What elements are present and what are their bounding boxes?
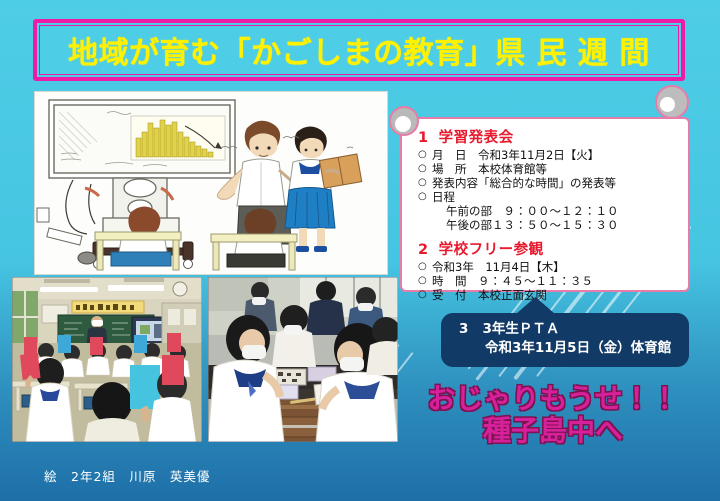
section-2-title: 学校フリー参観 — [439, 242, 544, 258]
bullet-marker: ○ — [418, 190, 432, 204]
photo-science-lab-observation — [208, 277, 398, 442]
slogan-line-1: おじゃりもうせ！！ — [398, 382, 708, 416]
poster-title-box: 地域が育む「かごしまの教育」県 民 週 間 — [33, 19, 685, 81]
schedule-afternoon: 午後の部１３：５０〜１５：３０ — [418, 218, 678, 232]
list-item-text: 月 日 令和3年11月2日【火】 — [432, 148, 599, 162]
info-section-2: 2学校フリー参観 ○ 令和3年 11月4日【木】 ○ 時 間 ９：４５〜１１：３… — [418, 238, 678, 302]
bullet-marker: ○ — [418, 148, 432, 162]
photo-classroom-response-cards — [12, 277, 202, 442]
bullet-marker: ○ — [418, 176, 432, 190]
list-item: ○ 時 間 ９：４５〜１１：３５ — [418, 274, 678, 288]
callout-pta-box: 3 3年生ＰＴＡ 令和3年11月5日（金）体育館 — [441, 313, 689, 367]
section-1-number: 1 — [418, 130, 429, 146]
section-2-heading: 2学校フリー参観 — [418, 238, 678, 259]
poster-title-inner: 地域が育む「かごしまの教育」県 民 週 間 — [39, 25, 679, 75]
list-item-text: 場 所 本校体育館等 — [432, 162, 547, 176]
illustration-hand-drawn-scene — [34, 91, 388, 275]
illustration-credit: 絵 2年2組 川原 英美優 — [44, 466, 210, 485]
page-title: 地域が育む「かごしまの教育」県 民 週 間 — [68, 28, 650, 72]
bullet-marker: ○ — [418, 260, 432, 274]
list-item: ○ 令和3年 11月4日【木】 — [418, 260, 678, 274]
list-item: ○ 場 所 本校体育館等 — [418, 162, 678, 176]
list-item-text: 令和3年 11月4日【木】 — [432, 260, 565, 274]
list-item-text: 時 間 ９：４５〜１１：３５ — [432, 274, 593, 288]
section-2-number: 2 — [418, 242, 429, 258]
section-1-title: 学習発表会 — [439, 130, 514, 146]
bullet-marker: ○ — [418, 274, 432, 288]
callout-title: 3年生ＰＴＡ — [483, 321, 560, 337]
callout-line-2: 令和3年11月5日（金）体育館 — [441, 339, 689, 358]
poster-root: 地域が育む「かごしまの教育」県 民 週 間 — [0, 0, 720, 501]
list-item-text: 発表内容「総合的な時間」の発表等 — [432, 176, 616, 190]
list-item: ○ 発表内容「総合的な時間」の発表等 — [418, 176, 678, 190]
callout-line-1: 3 3年生ＰＴＡ — [441, 320, 689, 339]
bullet-marker: ○ — [418, 288, 432, 302]
schedule-morning: 午前の部 ９：００〜１２：１０ — [418, 204, 678, 218]
slogan-block: おじゃりもうせ！！ 種子島中へ — [398, 382, 708, 448]
callout-number: 3 — [459, 321, 468, 337]
section-1-heading: 1学習発表会 — [418, 126, 678, 147]
info-section-1: 1学習発表会 ○ 月 日 令和3年11月2日【火】 ○ 場 所 本校体育館等 ○… — [418, 126, 678, 232]
list-item: ○ 月 日 令和3年11月2日【火】 — [418, 148, 678, 162]
bullet-marker: ○ — [418, 162, 432, 176]
scroll-curl-right-icon — [655, 85, 689, 119]
slogan-line-2: 種子島中へ — [398, 414, 708, 448]
list-item-text: 日程 — [432, 190, 455, 204]
info-panel-body: 1学習発表会 ○ 月 日 令和3年11月2日【火】 ○ 場 所 本校体育館等 ○… — [402, 119, 688, 290]
list-item: ○ 日程 — [418, 190, 678, 204]
info-panel: 1学習発表会 ○ 月 日 令和3年11月2日【火】 ○ 場 所 本校体育館等 ○… — [400, 117, 690, 292]
